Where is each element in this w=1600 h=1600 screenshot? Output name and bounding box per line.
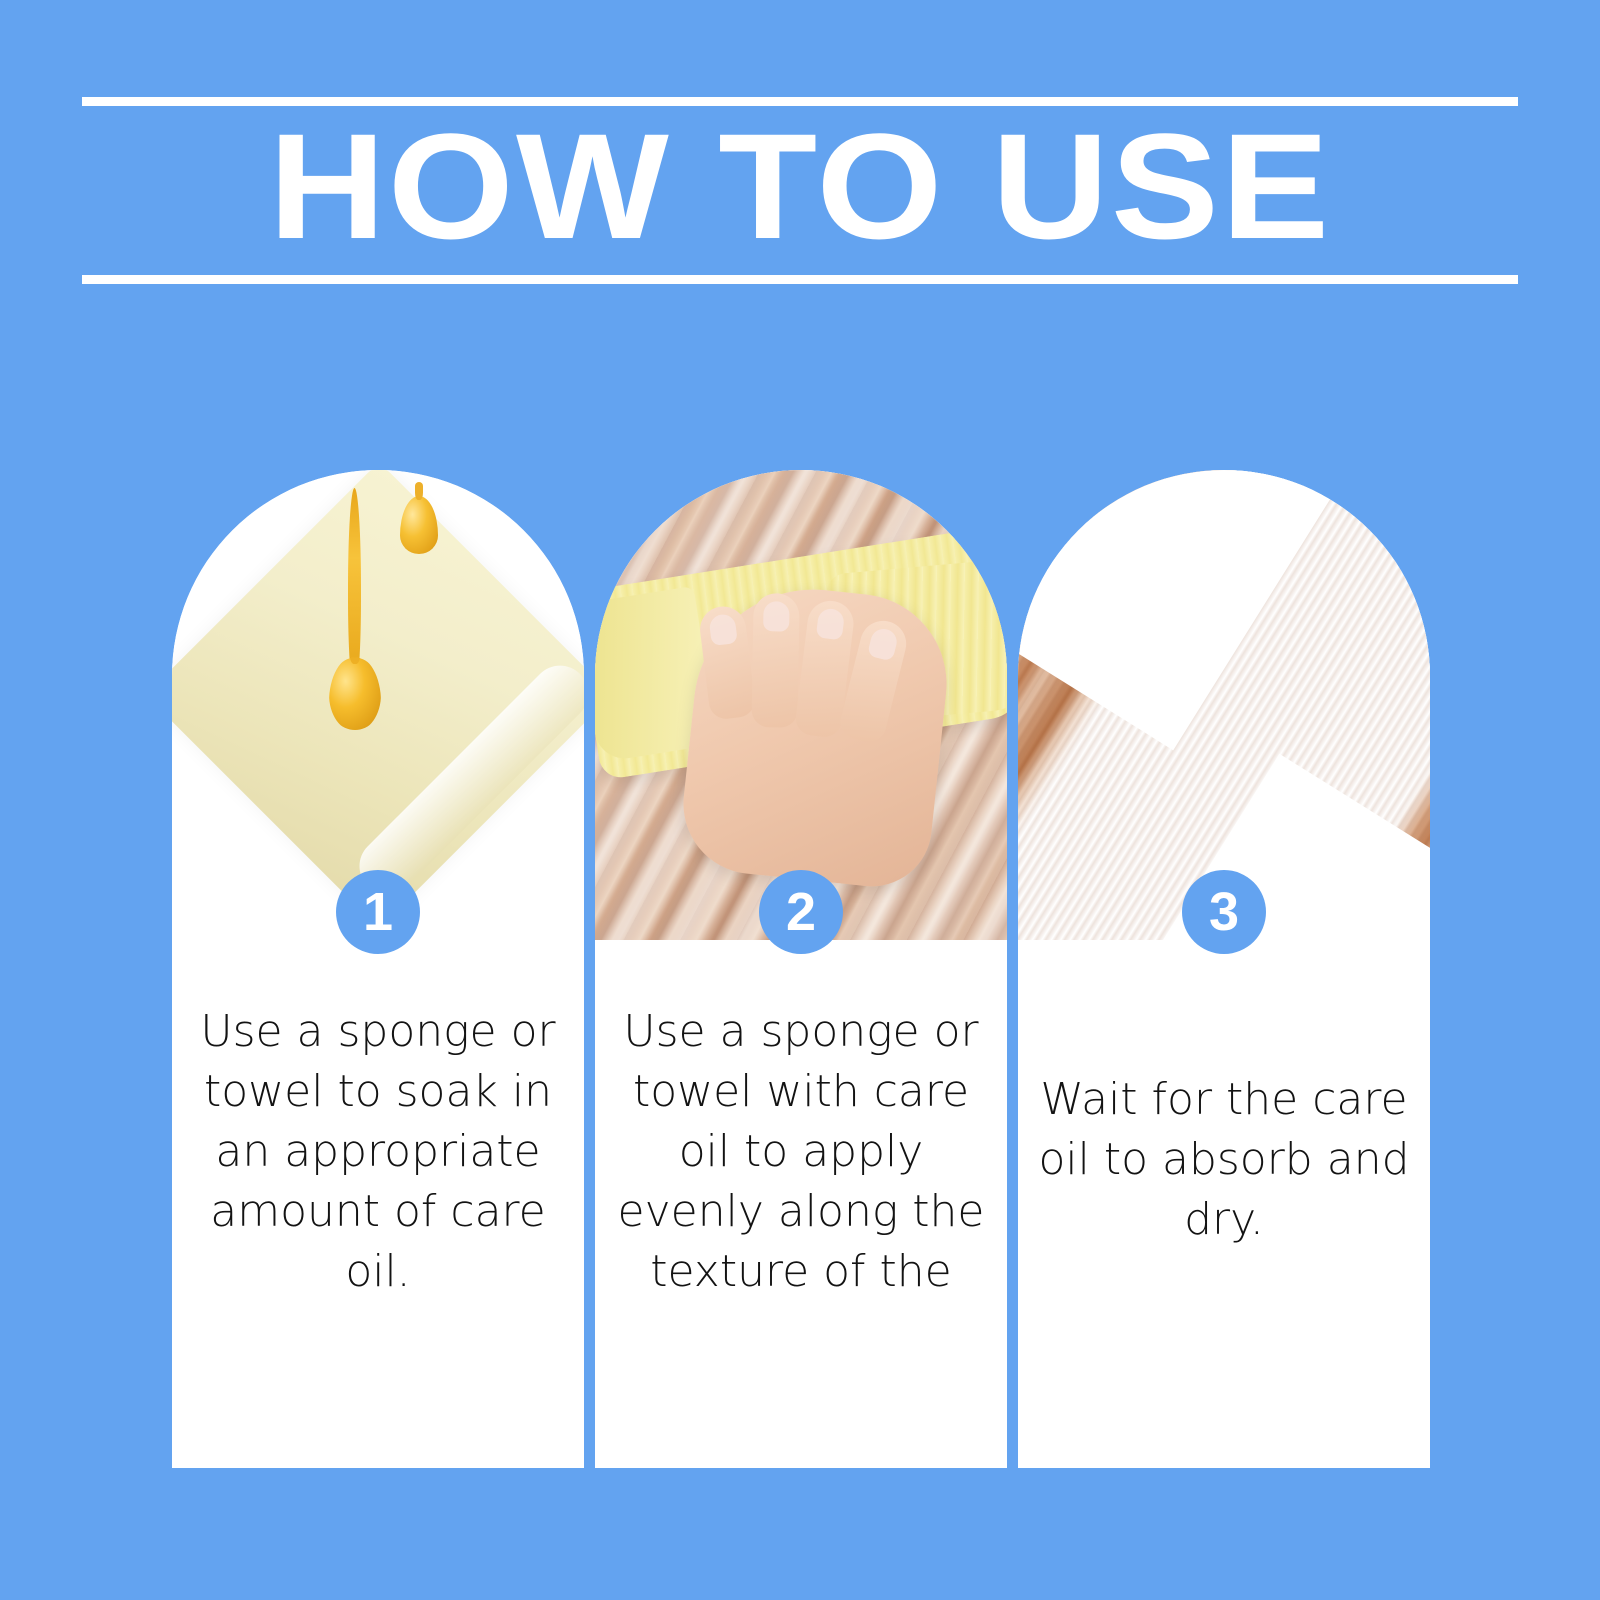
step-caption-1: Use a sponge or towel to soak in an appr… (192, 970, 564, 1400)
towel-fold (348, 654, 584, 906)
step-card-2: 2 Use a sponge or towel with care oil to… (595, 470, 1007, 1468)
page-header: HOW TO USE (0, 0, 1600, 300)
title-rule-bottom (82, 275, 1518, 284)
step-caption-2: Use a sponge or towel with care oil to a… (615, 970, 987, 1400)
step-badge-3: 3 (1182, 870, 1266, 954)
steps-row: 1 Use a sponge or towel to soak in an ap… (172, 470, 1430, 1468)
hand-shape (677, 578, 956, 893)
page-title: HOW TO USE (0, 106, 1600, 266)
step-caption-3: Wait for the care oil to absorb and dry. (1038, 970, 1410, 1400)
oil-drop-small-icon (400, 496, 438, 554)
step-badge-1: 1 (336, 870, 420, 954)
step-card-3: 3 Wait for the care oil to absorb and dr… (1018, 470, 1430, 1468)
finger-middle (751, 593, 799, 728)
step-badge-2: 2 (759, 870, 843, 954)
finger-index (697, 604, 756, 721)
step-card-1: 1 Use a sponge or towel to soak in an ap… (172, 470, 584, 1468)
